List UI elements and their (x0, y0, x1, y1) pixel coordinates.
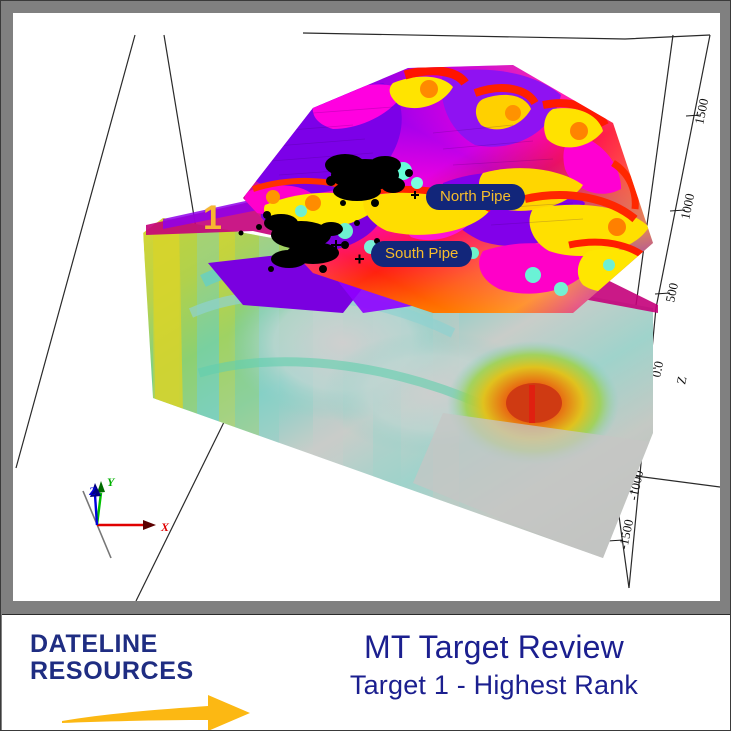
orientation-triad: X Y Z (83, 475, 170, 558)
footer-bar: DATELINE RESOURCES MT Target Review Targ… (2, 614, 731, 731)
logo-arrow-icon (58, 687, 258, 731)
model-3d-svg: 1500 1000 500 0.0 -500 -1000 -1500 Z (13, 13, 720, 601)
z-tick-2: 500 (662, 281, 681, 303)
logo-line-2: RESOURCES (30, 658, 260, 685)
model-viewport[interactable]: 1500 1000 500 0.0 -500 -1000 -1500 Z (13, 13, 720, 601)
target-number-label: 1 (203, 199, 222, 238)
triad-x-label: X (160, 520, 170, 534)
page-subtitle: Target 1 - Highest Rank (270, 667, 718, 703)
triad-z-label: Z (88, 484, 97, 498)
triad-y-label: Y (107, 475, 116, 489)
separator-band (1, 601, 731, 613)
z-tick-0: 1500 (691, 97, 711, 126)
dateline-resources-logo[interactable]: DATELINE RESOURCES (30, 631, 260, 717)
logo-line-1: DATELINE (30, 631, 260, 658)
page-title: MT Target Review (270, 627, 718, 667)
title-block: MT Target Review Target 1 - Highest Rank (270, 627, 718, 703)
slide-frame: 1500 1000 500 0.0 -500 -1000 -1500 Z (0, 0, 731, 731)
annotation-north-pipe[interactable]: North Pipe (426, 184, 525, 210)
annotation-south-pipe[interactable]: South Pipe (371, 241, 472, 267)
z-tick-1: 1000 (677, 192, 697, 221)
z-axis-label: Z (673, 375, 689, 386)
